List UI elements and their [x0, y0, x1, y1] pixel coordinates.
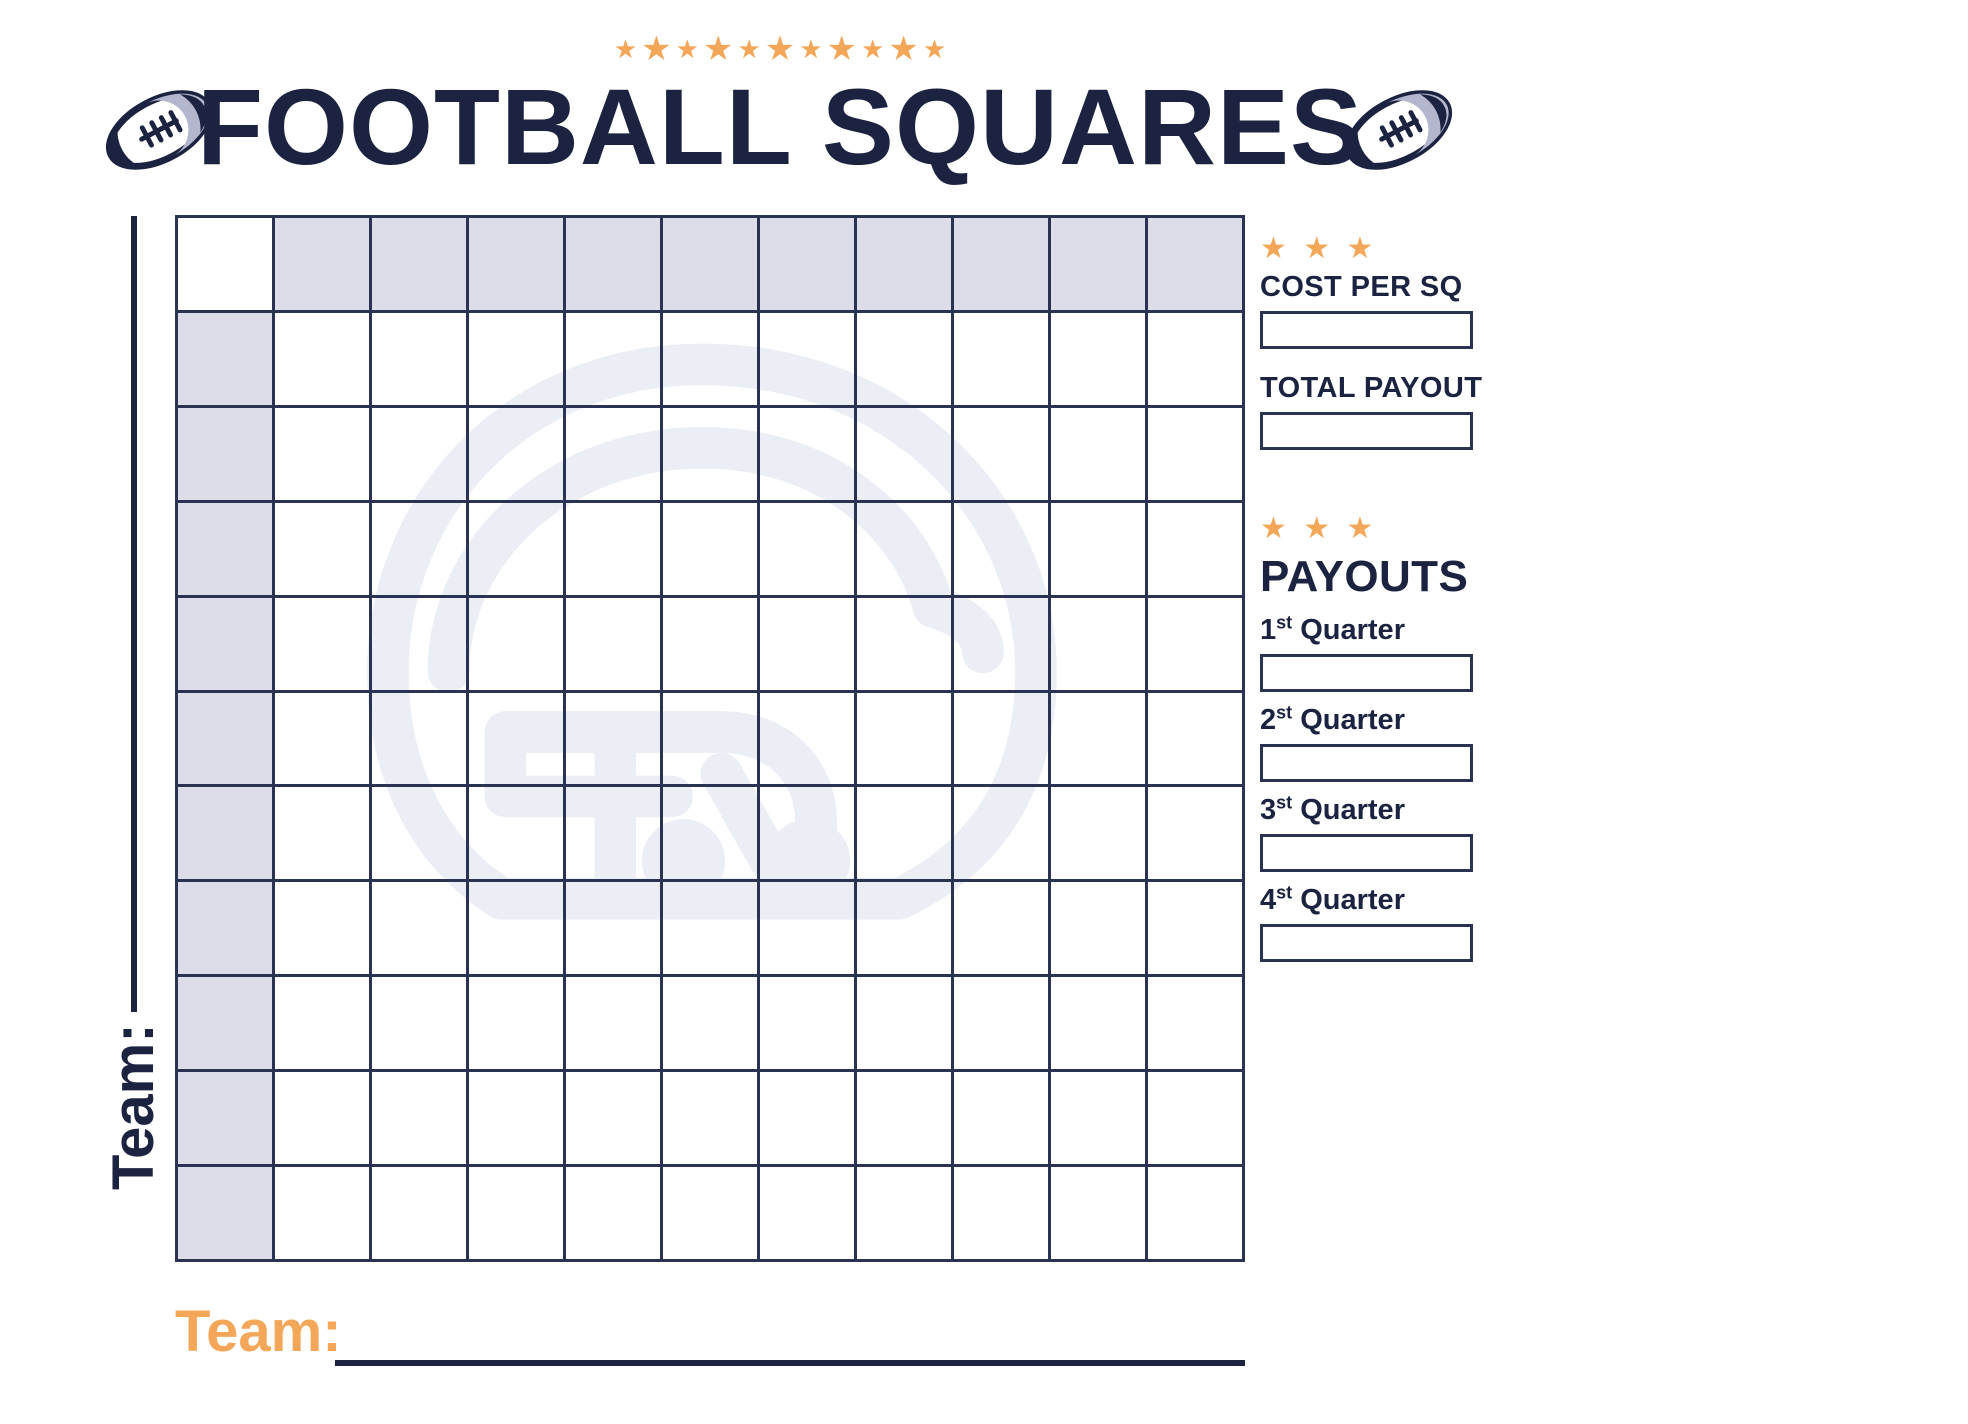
grid-row-header-cell[interactable] — [177, 786, 274, 881]
grid-row-header-cell[interactable] — [177, 1166, 274, 1261]
football-icon — [1340, 76, 1458, 184]
grid-row — [177, 881, 1244, 976]
grid-row-header-cell[interactable] — [177, 406, 274, 501]
grid-square[interactable] — [856, 1166, 953, 1261]
grid-square[interactable] — [1147, 1071, 1244, 1166]
grid-square[interactable] — [1050, 691, 1147, 786]
grid-square[interactable] — [1147, 406, 1244, 501]
grid-square[interactable] — [856, 311, 953, 406]
star-icon: ★ — [737, 36, 760, 62]
grid-square[interactable] — [274, 596, 371, 691]
star-icon: ★ — [703, 32, 733, 66]
grid-square[interactable] — [371, 596, 468, 691]
grid-square[interactable] — [662, 976, 759, 1071]
grid-square[interactable] — [953, 406, 1050, 501]
total-payout-label: TOTAL PAYOUT — [1260, 371, 1560, 405]
grid-row — [177, 786, 1244, 881]
grid-square[interactable] — [565, 786, 662, 881]
grid-square[interactable] — [371, 881, 468, 976]
grid-square[interactable] — [468, 1166, 565, 1261]
grid-row-header-cell[interactable] — [177, 501, 274, 596]
squares-grid[interactable] — [175, 215, 1245, 1262]
grid-row-header-cell[interactable] — [177, 311, 274, 406]
grid-square[interactable] — [662, 311, 759, 406]
grid-square[interactable] — [1050, 881, 1147, 976]
grid-square[interactable] — [371, 1166, 468, 1261]
grid-square[interactable] — [1147, 691, 1244, 786]
grid-square[interactable] — [468, 1071, 565, 1166]
grid-square[interactable] — [468, 311, 565, 406]
grid-square[interactable] — [468, 501, 565, 596]
grid-square[interactable] — [371, 406, 468, 501]
grid-square[interactable] — [953, 976, 1050, 1071]
grid-row — [177, 596, 1244, 691]
payouts-heading: PAYOUTS — [1260, 552, 1560, 602]
cost-per-sq-label: COST PER SQ — [1260, 270, 1560, 304]
grid-square[interactable] — [1147, 976, 1244, 1071]
grid-square[interactable] — [371, 1071, 468, 1166]
grid-square[interactable] — [371, 786, 468, 881]
quarter-1-label: 1st Quarter — [1260, 612, 1560, 648]
grid-header-cell[interactable] — [565, 217, 662, 312]
grid-square[interactable] — [856, 881, 953, 976]
grid-square[interactable] — [856, 976, 953, 1071]
grid-square[interactable] — [274, 976, 371, 1071]
grid-square[interactable] — [565, 691, 662, 786]
grid-square[interactable] — [759, 881, 856, 976]
star-icon: ★ — [923, 36, 946, 62]
grid-square[interactable] — [565, 596, 662, 691]
grid-square[interactable] — [1050, 786, 1147, 881]
grid-row-header-cell[interactable] — [177, 1071, 274, 1166]
grid-row-header-cell[interactable] — [177, 881, 274, 976]
bottom-team-rule[interactable] — [335, 1360, 1245, 1366]
grid-square[interactable] — [371, 311, 468, 406]
grid-square[interactable] — [856, 406, 953, 501]
grid-square[interactable] — [662, 881, 759, 976]
grid-square[interactable] — [662, 1166, 759, 1261]
quarter-1-word: Quarter — [1300, 614, 1405, 646]
grid-square[interactable] — [1050, 1071, 1147, 1166]
grid-square[interactable] — [1050, 501, 1147, 596]
quarter-3-label: 3st Quarter — [1260, 792, 1560, 828]
grid-row — [177, 311, 1244, 406]
grid-square[interactable] — [565, 881, 662, 976]
quarter-4-input[interactable] — [1260, 924, 1473, 962]
grid-square[interactable] — [371, 976, 468, 1071]
quarter-3-input[interactable] — [1260, 834, 1473, 872]
grid-square[interactable] — [1147, 881, 1244, 976]
star-icon: ★ — [676, 36, 699, 62]
grid-square[interactable] — [759, 1166, 856, 1261]
quarter-4-word: Quarter — [1300, 884, 1405, 916]
grid-square[interactable] — [662, 1071, 759, 1166]
quarter-3-ordinal: st — [1276, 792, 1292, 812]
star-icon: ★ — [614, 36, 637, 62]
grid-square[interactable] — [565, 976, 662, 1071]
quarter-4-ordinal: st — [1276, 882, 1292, 902]
grid-header-cell[interactable] — [759, 217, 856, 312]
squares-grid-body — [177, 217, 1244, 1261]
grid-square[interactable] — [1147, 596, 1244, 691]
quarter-2-ordinal: st — [1276, 702, 1292, 722]
grid-square[interactable] — [953, 691, 1050, 786]
grid-square[interactable] — [274, 311, 371, 406]
grid-header-cell[interactable] — [468, 217, 565, 312]
grid-square[interactable] — [274, 501, 371, 596]
grid-square[interactable] — [662, 406, 759, 501]
grid-square[interactable] — [468, 976, 565, 1071]
grid-header-cell[interactable] — [662, 217, 759, 312]
quarter-1-ordinal: st — [1276, 612, 1292, 632]
grid-square[interactable] — [759, 691, 856, 786]
grid-header-cell[interactable] — [274, 217, 371, 312]
quarter-3-word: Quarter — [1300, 794, 1405, 826]
star-icon: ★ — [641, 32, 671, 66]
grid-square[interactable] — [1147, 501, 1244, 596]
grid-square[interactable] — [1147, 1166, 1244, 1261]
quarter-1-number: 1 — [1260, 614, 1276, 646]
grid-row-header-cell[interactable] — [177, 976, 274, 1071]
grid-row-header-cell[interactable] — [177, 596, 274, 691]
grid-square[interactable] — [565, 311, 662, 406]
grid-square[interactable] — [759, 311, 856, 406]
star-icon: ★ — [765, 32, 795, 66]
grid-square[interactable] — [856, 691, 953, 786]
grid-square[interactable] — [468, 406, 565, 501]
side-panel: ★ ★ ★ COST PER SQ TOTAL PAYOUT ★ ★ ★ PAY… — [1260, 232, 1560, 962]
grid-square[interactable] — [662, 501, 759, 596]
grid-square[interactable] — [1050, 976, 1147, 1071]
left-team-axis-line — [131, 216, 137, 1012]
grid-square[interactable] — [274, 1071, 371, 1166]
grid-square[interactable] — [953, 596, 1050, 691]
star-icon: ★ — [888, 32, 918, 66]
quarter-4-label: 4st Quarter — [1260, 882, 1560, 918]
page-title: FOOTBALL SQUARES — [0, 62, 1560, 192]
cost-per-sq-input[interactable] — [1260, 311, 1473, 349]
grid-row — [177, 691, 1244, 786]
page-header: FOOTBALL SQUARES — [0, 62, 1560, 192]
grid-square[interactable] — [565, 1071, 662, 1166]
grid-square[interactable] — [953, 881, 1050, 976]
panel-spacer — [1260, 450, 1560, 512]
grid-square[interactable] — [953, 1071, 1050, 1166]
grid-square[interactable] — [1147, 311, 1244, 406]
grid-square[interactable] — [856, 1071, 953, 1166]
star-icon: ★ — [861, 36, 884, 62]
grid-square[interactable] — [468, 881, 565, 976]
grid-square[interactable] — [856, 786, 953, 881]
bottom-team-label: Team: — [175, 1296, 342, 1368]
grid-row-header-cell[interactable] — [177, 691, 274, 786]
grid-square[interactable] — [1050, 596, 1147, 691]
grid-square[interactable] — [759, 501, 856, 596]
grid-square[interactable] — [274, 881, 371, 976]
grid-square[interactable] — [274, 691, 371, 786]
star-icon: ★ — [799, 36, 822, 62]
quarter-2-number: 2 — [1260, 704, 1276, 736]
grid-header-cell[interactable] — [856, 217, 953, 312]
top-star-row: ★★★★★★★★★★★ — [0, 32, 1560, 66]
grid-row — [177, 976, 1244, 1071]
football-squares-page: ★★★★★★★★★★★ FOOTBALL SQUARES — [0, 0, 1968, 1424]
grid-square[interactable] — [759, 406, 856, 501]
grid-row — [177, 406, 1244, 501]
payouts-section-stars: ★ ★ ★ — [1260, 512, 1560, 550]
total-payout-input[interactable] — [1260, 412, 1473, 450]
quarter-2-word: Quarter — [1300, 704, 1405, 736]
cost-section-stars: ★ ★ ★ — [1260, 232, 1560, 270]
grid-square[interactable] — [565, 501, 662, 596]
grid-row — [177, 1166, 1244, 1261]
grid-square[interactable] — [953, 501, 1050, 596]
grid-square[interactable] — [759, 786, 856, 881]
grid-square[interactable] — [274, 406, 371, 501]
star-icon: ★ — [827, 32, 857, 66]
grid-square[interactable] — [468, 596, 565, 691]
grid-square[interactable] — [1050, 1166, 1147, 1261]
grid-square[interactable] — [759, 1071, 856, 1166]
grid-square[interactable] — [565, 406, 662, 501]
quarter-3-number: 3 — [1260, 794, 1276, 826]
grid-square[interactable] — [274, 786, 371, 881]
grid-header-row — [177, 217, 1244, 312]
grid-square[interactable] — [856, 501, 953, 596]
quarter-1-input[interactable] — [1260, 654, 1473, 692]
grid-square[interactable] — [274, 1166, 371, 1261]
quarter-4-number: 4 — [1260, 884, 1276, 916]
grid-square[interactable] — [759, 976, 856, 1071]
grid-header-cell[interactable] — [371, 217, 468, 312]
grid-row — [177, 501, 1244, 596]
grid-square[interactable] — [856, 596, 953, 691]
grid-header-cell[interactable] — [1050, 217, 1147, 312]
grid-corner-cell — [177, 217, 274, 312]
grid-row — [177, 1071, 1244, 1166]
panel-spacer — [1260, 349, 1560, 371]
left-team-label: Team: — [102, 920, 166, 1190]
grid-square[interactable] — [662, 691, 759, 786]
grid-square[interactable] — [662, 786, 759, 881]
grid-square[interactable] — [953, 311, 1050, 406]
grid-square[interactable] — [953, 786, 1050, 881]
bottom-team-field: Team: — [175, 1296, 1275, 1376]
grid-square[interactable] — [1050, 311, 1147, 406]
grid-square[interactable] — [371, 691, 468, 786]
grid-square[interactable] — [565, 1166, 662, 1261]
grid-square[interactable] — [953, 1166, 1050, 1261]
grid-header-cell[interactable] — [1147, 217, 1244, 312]
grid-square[interactable] — [468, 691, 565, 786]
grid-square[interactable] — [662, 596, 759, 691]
grid-square[interactable] — [1147, 786, 1244, 881]
grid-square[interactable] — [468, 786, 565, 881]
quarter-2-label: 2st Quarter — [1260, 702, 1560, 738]
grid-square[interactable] — [371, 501, 468, 596]
quarter-2-input[interactable] — [1260, 744, 1473, 782]
grid-square[interactable] — [759, 596, 856, 691]
grid-header-cell[interactable] — [953, 217, 1050, 312]
grid-square[interactable] — [1050, 406, 1147, 501]
